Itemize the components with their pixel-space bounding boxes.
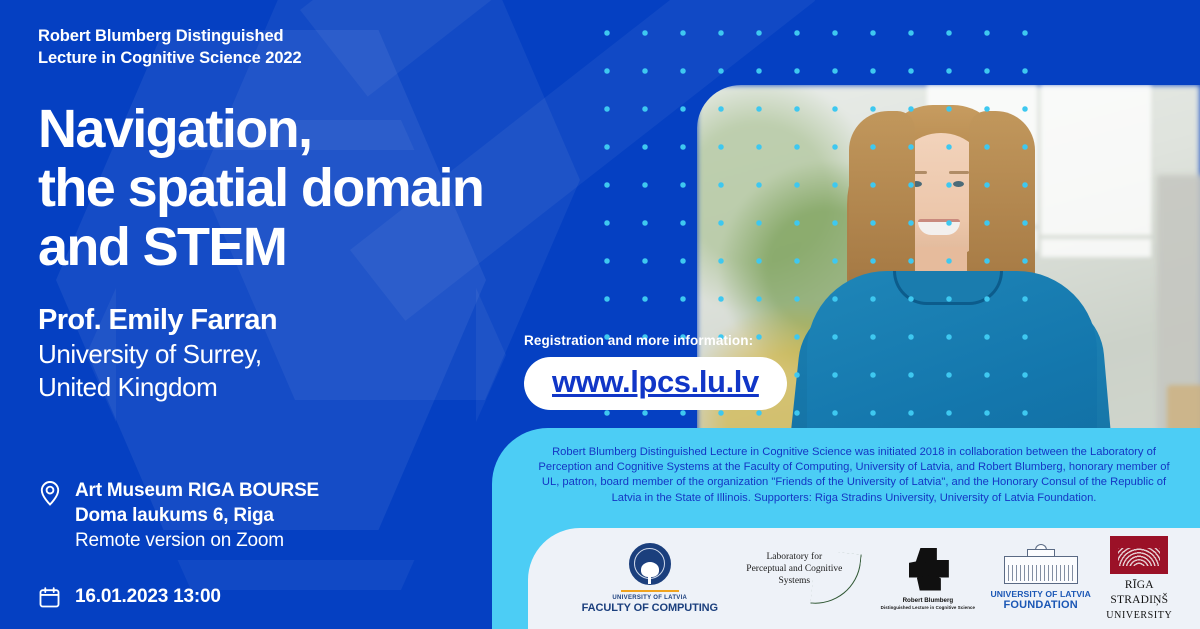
partner-logo-bar: UNIVERSITY OF LATVIA FACULTY OF COMPUTIN… bbox=[528, 528, 1200, 629]
collar bbox=[893, 271, 1003, 305]
event-datetime: 16.01.2023 13:00 bbox=[75, 584, 221, 609]
blumberg-cube-icon bbox=[905, 548, 951, 592]
speaker-block: Prof. Emily Farran University of Surrey,… bbox=[38, 302, 277, 404]
eye bbox=[953, 181, 964, 187]
logo-line-1: Robert Blumberg bbox=[903, 597, 954, 604]
location-row: Art Museum RIGA BOURSE Doma laukums 6, R… bbox=[38, 478, 319, 553]
venue-address: Doma laukums 6, Riga bbox=[75, 505, 274, 526]
event-poster: Robert Blumberg Distinguished Lecture in… bbox=[0, 0, 1200, 629]
speaker-name: Prof. Emily Farran bbox=[38, 302, 277, 338]
logo-line-1: UNIVERSITY OF LATVIA bbox=[612, 595, 687, 601]
eyebrow-line-2: Lecture in Cognitive Science 2022 bbox=[38, 47, 302, 69]
registration-url-button[interactable]: www.lpcs.lu.lv bbox=[524, 357, 787, 410]
foundation-building-icon bbox=[1004, 546, 1078, 586]
speaker-affiliation-line-1: University of Surrey, bbox=[38, 338, 277, 371]
logo-laboratory-for-perceptual-and-cognitive-systems: Laboratory for Perceptual and Cognitive … bbox=[733, 548, 865, 610]
location-text: Art Museum RIGA BOURSE Doma laukums 6, R… bbox=[75, 478, 319, 553]
logo-line-1: UNIVERSITY OF LATVIA bbox=[990, 589, 1091, 599]
remote-note: Remote version on Zoom bbox=[75, 530, 284, 551]
title-line-3: and STEM bbox=[38, 218, 483, 277]
logo-line-3: UNIVERSITY bbox=[1106, 610, 1172, 621]
lab-swoosh-icon bbox=[811, 549, 862, 608]
logo-line-2: STRADIŅŠ bbox=[1110, 594, 1168, 606]
logo-university-of-latvia-foundation: UNIVERSITY OF LATVIA FOUNDATION bbox=[990, 546, 1091, 611]
logo-line-2: FOUNDATION bbox=[1003, 599, 1078, 611]
ul-seal-tree-icon bbox=[629, 543, 671, 585]
description-text: Robert Blumberg Distinguished Lecture in… bbox=[492, 428, 1200, 506]
logo-line-2: FACULTY OF COMPUTING bbox=[582, 602, 718, 614]
title-line-1: Navigation, bbox=[38, 100, 483, 159]
date-row: 16.01.2023 13:00 bbox=[38, 584, 319, 610]
series-eyebrow: Robert Blumberg Distinguished Lecture in… bbox=[38, 25, 302, 69]
mouth bbox=[918, 219, 960, 235]
logo-line-1: RĪGA bbox=[1125, 579, 1154, 591]
logo-university-of-latvia-faculty-of-computing: UNIVERSITY OF LATVIA FACULTY OF COMPUTIN… bbox=[582, 543, 718, 615]
speaker-affiliation-line-2: United Kingdom bbox=[38, 371, 277, 404]
divider bbox=[621, 590, 679, 593]
map-pin-icon bbox=[38, 478, 62, 504]
logo-line-2: Distinguished Lecture in Cognitive Scien… bbox=[881, 605, 975, 610]
registration-label: Registration and more information: bbox=[524, 333, 787, 348]
logo-robert-blumberg: Robert Blumberg Distinguished Lecture in… bbox=[881, 548, 975, 610]
page-title: Navigation, the spatial domain and STEM bbox=[38, 100, 483, 277]
calendar-icon bbox=[38, 584, 62, 610]
event-details: Art Museum RIGA BOURSE Doma laukums 6, R… bbox=[38, 478, 319, 610]
eyebrow-line-1: Robert Blumberg Distinguished bbox=[38, 25, 302, 47]
registration-block: Registration and more information: www.l… bbox=[524, 333, 787, 410]
rsu-red-mark-icon bbox=[1110, 536, 1168, 574]
logo-line-3: Systems bbox=[778, 576, 810, 586]
logo-riga-stradins-university: RĪGA STRADIŅŠ UNIVERSITY bbox=[1106, 536, 1172, 622]
venue-name: Art Museum RIGA BOURSE bbox=[75, 480, 319, 501]
title-line-2: the spatial domain bbox=[38, 159, 483, 218]
eyebrow bbox=[949, 171, 969, 174]
